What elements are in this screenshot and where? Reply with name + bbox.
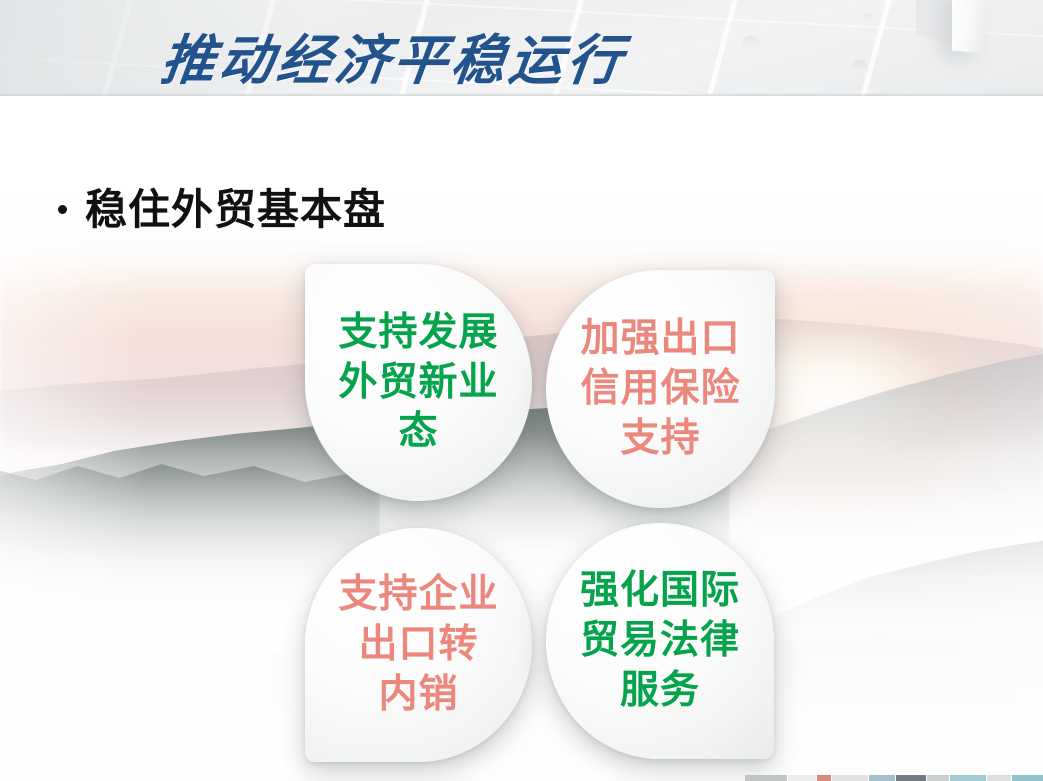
bubble-export-credit-insurance[interactable]: 加强出口 信用保险 支持 — [546, 270, 775, 508]
bubble-bl-line-1: 支持企业 — [339, 570, 499, 620]
bottom-strip-segment — [869, 775, 895, 781]
bottom-edge-strip — [0, 775, 1043, 781]
bubble-tr-line-1: 加强出口 — [577, 314, 745, 364]
bubble-tl-line-1: 支持发展 — [339, 308, 499, 358]
bottom-strip-segment — [896, 775, 926, 781]
bubble-br-line-1: 强化国际 — [576, 566, 744, 616]
bottom-strip-segment — [832, 775, 868, 781]
header-blob-b — [853, 60, 867, 71]
bubble-br-inner: 强化国际 贸易法律 服务 — [576, 566, 744, 716]
bubble-export-to-domestic-sales[interactable]: 支持企业 出口转 内销 — [305, 528, 532, 762]
page-title: 推动经济平稳运行 — [157, 16, 631, 95]
bubble-tl-line-2: 外贸新业 — [339, 358, 499, 408]
bottom-strip-segment — [987, 775, 1011, 781]
bubble-support-new-trade-formats[interactable]: 支持发展 外贸新业 态 — [305, 264, 532, 501]
bullet-dot-icon — [58, 205, 67, 214]
header-panel-front — [952, 0, 986, 53]
bubble-tl-line-3: 态 — [339, 407, 499, 457]
bullet-text: 稳住外贸基本盘 — [85, 176, 386, 237]
bottom-strip-segment — [927, 775, 949, 781]
header-blob-a — [742, 36, 760, 50]
bottom-strip-segment — [950, 775, 986, 781]
bottom-strip-segment — [1012, 775, 1043, 781]
bottom-strip-segment — [745, 775, 787, 781]
bubble-br-line-2: 贸易法律 — [576, 616, 744, 666]
bubble-bl-inner: 支持企业 出口转 内销 — [339, 570, 499, 720]
bubble-tl-inner: 支持发展 外贸新业 态 — [339, 308, 499, 458]
bullet-row: 稳住外贸基本盘 — [58, 176, 386, 237]
slide-canvas: 推动经济平稳运行 稳住外贸基本盘 支持发展 外贸新业 态 加强出口 信用保险 支… — [0, 0, 1043, 781]
bubble-tr-line-3: 支持 — [577, 414, 745, 464]
bottom-strip-segment — [788, 775, 816, 781]
bubble-bl-line-3: 内销 — [339, 670, 499, 720]
header-blob-c — [862, 13, 875, 23]
bubble-bl-line-2: 出口转 — [339, 620, 499, 670]
bubble-br-line-3: 服务 — [576, 666, 744, 716]
bottom-strip-segment — [817, 775, 831, 781]
bubble-international-trade-legal-services[interactable]: 强化国际 贸易法律 服务 — [546, 523, 774, 759]
bubble-tr-line-2: 信用保险 — [577, 364, 745, 414]
bubble-tr-inner: 加强出口 信用保险 支持 — [577, 314, 745, 464]
